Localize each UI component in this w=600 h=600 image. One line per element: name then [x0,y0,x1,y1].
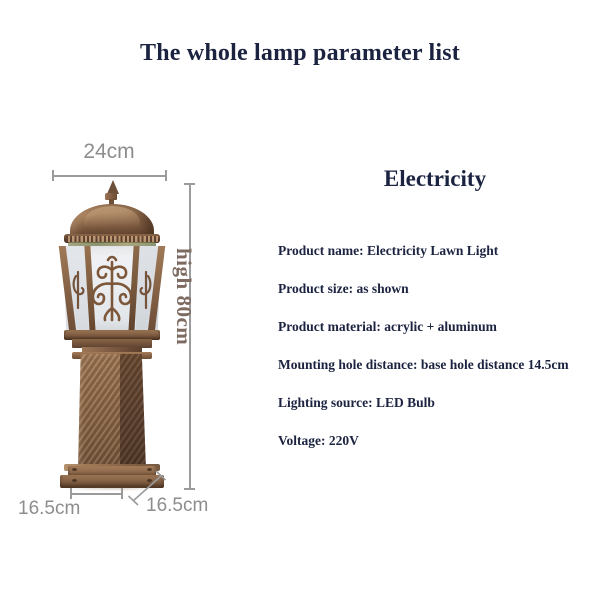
spec-heading: Electricity [300,166,570,192]
dimension-label-base-width: 16.5cm [18,498,80,520]
lamp-finial-icon [107,180,119,194]
product-image-lawn-lamp [52,180,170,492]
dimension-tick-right [165,170,167,181]
dimension-label-height: high 80cm [171,248,196,345]
dimension-line-width-top [52,175,166,177]
spec-line-product-size: Product size: as shown [278,281,578,297]
spec-sheet-page: The whole lamp parameter list [0,0,600,600]
dimension-tick-left [52,170,54,181]
spec-line-product-material: Product material: acrylic + aluminum [278,319,578,335]
spec-line-product-name: Product name: Electricity Lawn Light [278,243,578,259]
dimension-tick-bottom [184,488,195,490]
lamp-lantern-cage [62,246,162,332]
dimension-tick-top [184,183,195,185]
spec-line-voltage: Voltage: 220V [278,433,578,449]
spec-line-mounting-hole-distance: Mounting hole distance: base hole distan… [278,357,578,373]
lamp-mounting-hole [72,468,77,471]
dimension-label-width-top: 24cm [52,140,166,164]
dimension-line-base-width [70,493,122,495]
dimension-label-base-depth: 16.5cm [146,495,208,517]
lamp-column-post [78,354,146,470]
dimension-tick-base-right [121,488,123,499]
lamp-mounting-hole [72,479,77,482]
lamp-column-front-face [78,354,122,470]
page-title: The whole lamp parameter list [0,40,600,67]
spec-line-lighting-source: Lighting source: LED Bulb [278,395,578,411]
lamp-column-side-face [120,354,146,470]
spec-list: Product name: Electricity Lawn Light Pro… [278,243,578,471]
lamp-scrollwork-ornament-icon [62,246,162,332]
